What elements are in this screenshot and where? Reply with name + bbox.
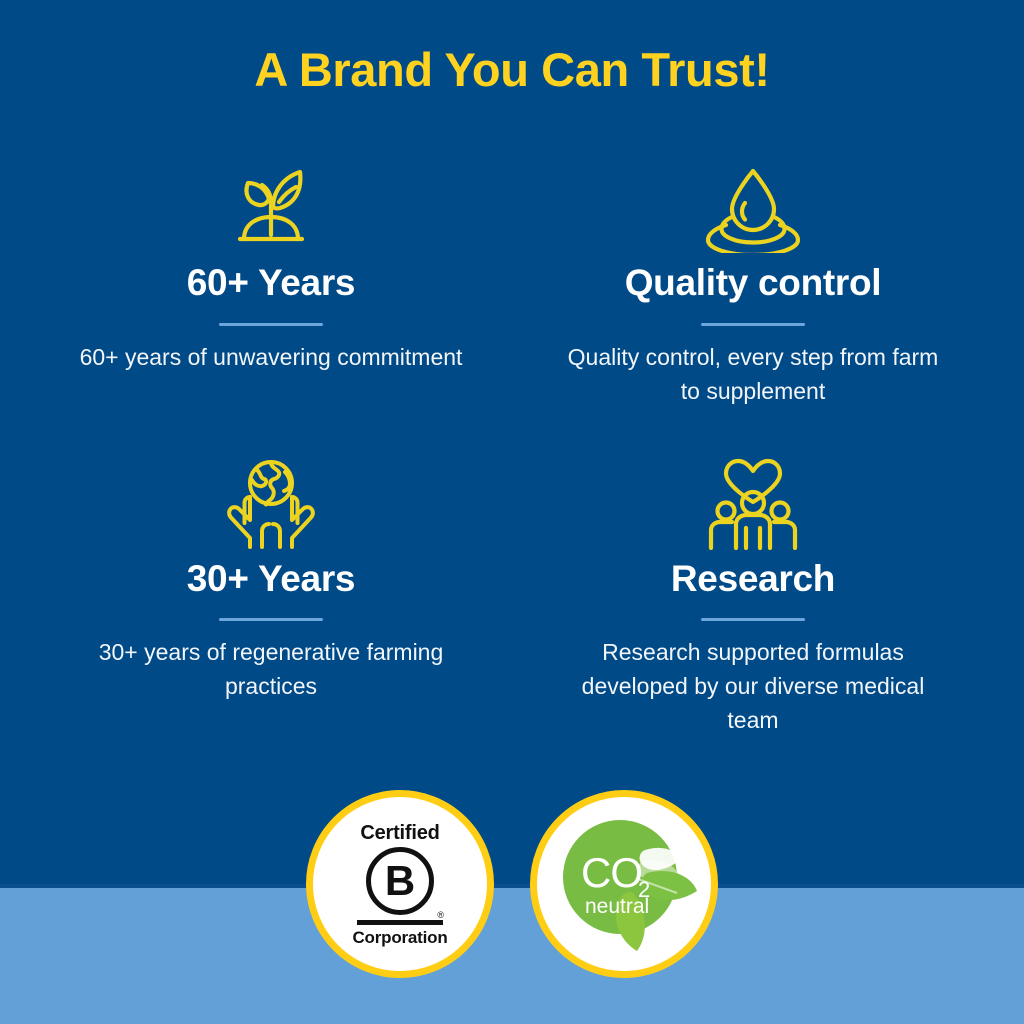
feature-divider xyxy=(701,323,805,326)
feature-body: 30+ years of regenerative farming practi… xyxy=(76,635,466,703)
feature-heading: 60+ Years xyxy=(187,262,355,305)
heart-people-icon xyxy=(703,456,803,552)
feature-body: 60+ years of unwavering commitment xyxy=(80,340,463,374)
b-corp-rule: ® xyxy=(357,920,443,925)
feature-divider xyxy=(219,618,323,621)
b-corp-bar xyxy=(357,920,443,925)
co2-neutral-badge: CO 2 neutral xyxy=(530,790,718,978)
feature-card-quality-control: Quality control Quality control, every s… xyxy=(522,160,984,408)
feature-grid: 60+ Years 60+ years of unwavering commit… xyxy=(40,160,984,737)
registered-trademark-icon: ® xyxy=(437,911,444,920)
sprout-icon xyxy=(228,160,314,256)
hands-holding-globe-icon xyxy=(225,456,317,552)
feature-card-research: Research Research supported formulas dev… xyxy=(522,456,984,738)
b-corp-bottom-text: Corporation xyxy=(352,929,447,946)
feature-card-30-years: 30+ Years 30+ years of regenerative farm… xyxy=(40,456,502,738)
feature-heading: 30+ Years xyxy=(187,558,355,601)
b-corp-top-text: Certified xyxy=(360,823,439,843)
infographic-canvas: A Brand You Can Trust! 60+ Years 60+ yea… xyxy=(0,0,1024,1024)
svg-text:CO: CO xyxy=(581,849,642,896)
feature-divider xyxy=(219,323,323,326)
b-corp-certification-badge: Certified B ® Corporation xyxy=(306,790,494,978)
page-title: A Brand You Can Trust! xyxy=(0,44,1024,96)
feature-card-60-years: 60+ Years 60+ years of unwavering commit… xyxy=(40,160,502,408)
co2-neutral-logo: CO 2 neutral xyxy=(541,801,707,967)
svg-text:neutral: neutral xyxy=(585,895,649,918)
b-corp-logo: Certified B ® Corporation xyxy=(313,797,487,971)
certification-badges: Certified B ® Corporation CO 2 xyxy=(0,790,1024,978)
water-droplet-icon xyxy=(701,160,805,256)
b-corp-letter: B xyxy=(366,847,434,915)
feature-body: Research supported formulas developed by… xyxy=(558,635,948,737)
feature-body: Quality control, every step from farm to… xyxy=(558,340,948,408)
feature-heading: Research xyxy=(671,558,835,601)
feature-heading: Quality control xyxy=(625,262,882,305)
feature-divider xyxy=(701,618,805,621)
